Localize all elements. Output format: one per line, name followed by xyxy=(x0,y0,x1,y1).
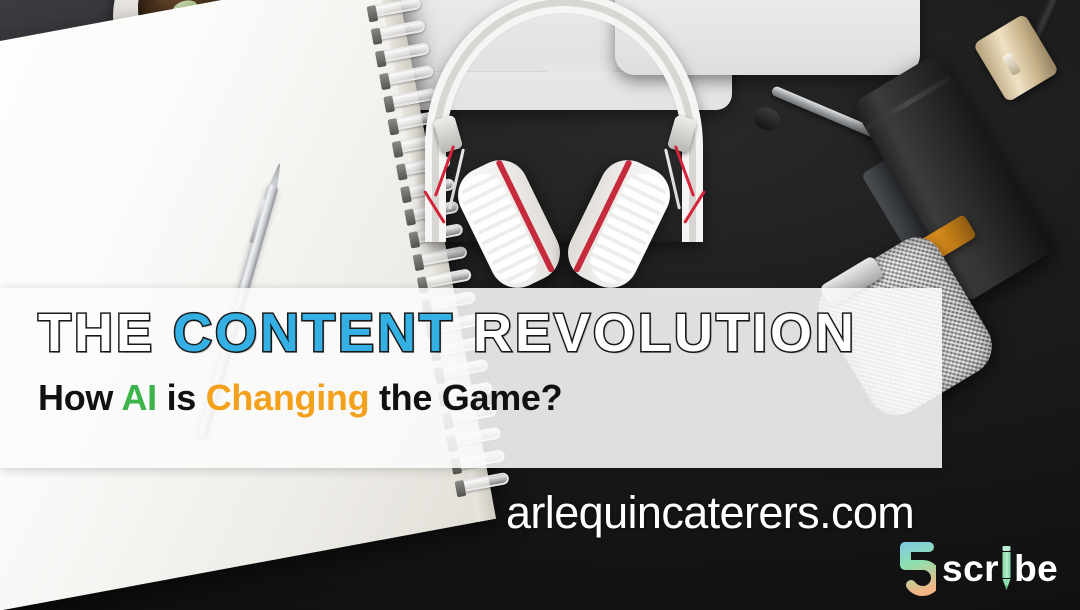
logo-word-after: be xyxy=(1014,550,1058,587)
subheadline-run-2: AI xyxy=(121,377,156,418)
spiral-ring xyxy=(457,472,510,493)
spiral-ring-clip xyxy=(396,163,408,180)
spiral-ring-clip xyxy=(375,50,387,67)
headline-word-1: THE xyxy=(38,306,155,360)
headline-word-3: REVOLUTION xyxy=(473,306,857,360)
website-url[interactable]: arlequincaterers.com xyxy=(506,487,914,539)
spiral-ring-clip xyxy=(387,118,399,135)
title-banner: THE CONTENT REVOLUTION How AI is Changin… xyxy=(0,288,942,468)
promo-graphic: THE CONTENT REVOLUTION How AI is Changin… xyxy=(0,0,1080,610)
spiral-ring-clip xyxy=(455,480,467,497)
spiral-ring-clip xyxy=(367,5,379,22)
headline-word-2: CONTENT xyxy=(173,306,455,360)
subheadline-run-5: the Game? xyxy=(369,377,562,418)
subheadline-run-3: is xyxy=(157,377,206,418)
headline-text: THE CONTENT REVOLUTION xyxy=(38,306,857,360)
logo-word-before: scr xyxy=(942,550,999,587)
subheadline-run-4: Changing xyxy=(206,377,370,418)
spiral-ring xyxy=(369,0,422,18)
spiral-ring-clip xyxy=(392,141,404,158)
headphones-image xyxy=(415,0,715,292)
spiral-ring-clip xyxy=(383,95,395,112)
spiral-ring-clip xyxy=(400,186,412,203)
subheadline-text: How AI is Changing the Game? xyxy=(38,380,562,416)
logo-numeral-five-icon xyxy=(890,540,936,596)
logo-wordmark: scr be xyxy=(942,546,1058,590)
brand-logo[interactable]: scr be xyxy=(890,540,1058,596)
spiral-ring-clip xyxy=(371,28,383,45)
pencil-icon xyxy=(1000,546,1013,590)
spiral-ring-clip xyxy=(379,73,391,90)
subheadline-run-1: How xyxy=(38,377,121,418)
